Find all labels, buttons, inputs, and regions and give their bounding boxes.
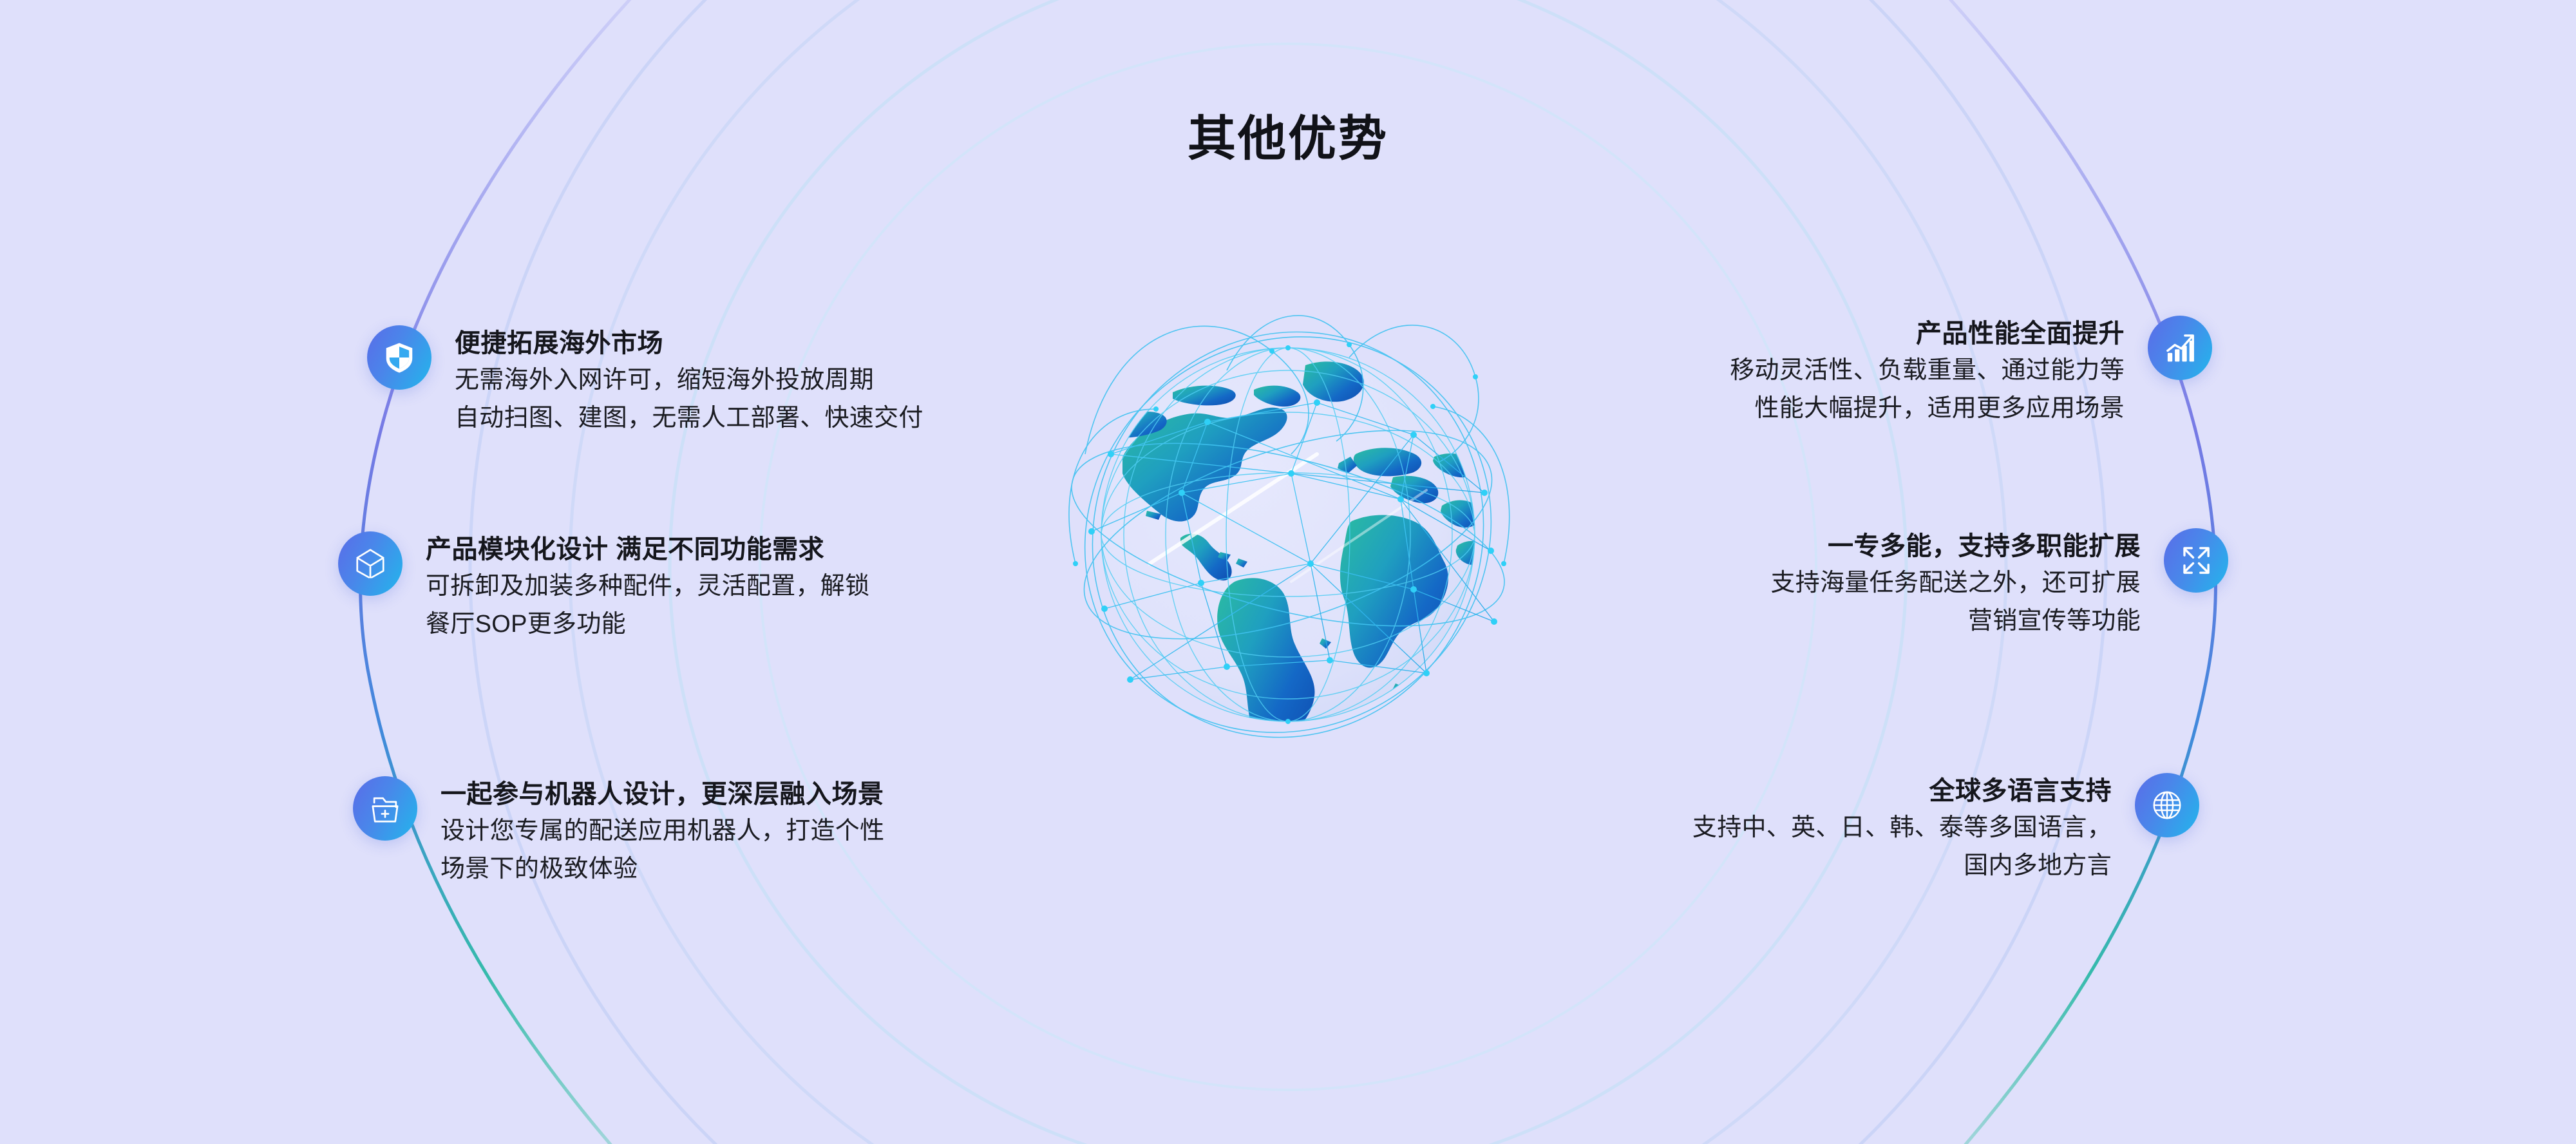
feature-heading: 产品模块化设计 满足不同功能需求 [426,533,869,567]
feature-item-left-1[interactable]: 便捷拓展海外市场 无需海外入网许可，缩短海外投放周期 自动扫图、建图，无需人工部… [367,325,923,437]
feature-item-right-2[interactable]: 一专多能，支持多职能扩展 支持海量任务配送之外，还可扩展 营销宣传等功能 [1770,528,2228,640]
cube-module-icon [353,546,388,581]
folder-plus-icon-badge[interactable] [353,776,417,841]
feature-text: 产品性能全面提升 移动灵活性、负载重量、通过能力等 性能大幅提升，适用更多应用场… [1730,316,2125,428]
feature-heading: 产品性能全面提升 [1730,317,2125,352]
feature-heading: 一专多能，支持多职能扩展 [1770,529,2141,564]
feature-item-right-1[interactable]: 产品性能全面提升 移动灵活性、负载重量、通过能力等 性能大幅提升，适用更多应用场… [1730,316,2212,428]
feature-text: 全球多语言支持 支持中、英、日、韩、泰等多国语言， 国内多地方言 [1692,773,2112,885]
feature-heading: 一起参与机器人设计，更深层融入场景 [440,777,884,812]
shield-icon [382,340,417,375]
feature-line: 国内多地方言 [1692,847,2112,885]
feature-text: 一起参与机器人设计，更深层融入场景 设计您专属的配送应用机器人，打造个性 场景下… [440,776,884,888]
feature-line: 无需海外入网许可，缩短海外投放周期 [455,361,923,399]
cube-module-icon-badge[interactable] [338,531,402,596]
folder-plus-icon [368,791,402,826]
globe-network-illustration [1014,261,1562,808]
trending-bar-chart-icon [2163,330,2197,365]
page-title: 其他优势 [0,115,2576,163]
globe-icon-badge[interactable] [2135,773,2199,837]
feature-line: 营销宣传等功能 [1770,602,2141,640]
feature-line: 支持海量任务配送之外，还可扩展 [1770,564,2141,602]
feature-text: 产品模块化设计 满足不同功能需求 可拆卸及加装多种配件，灵活配置，解锁 餐厅SO… [426,531,869,643]
feature-line: 移动灵活性、负载重量、通过能力等 [1730,352,2125,390]
expand-arrows-icon-badge[interactable] [2164,528,2228,593]
feature-heading: 全球多语言支持 [1692,774,2112,809]
shield-icon-badge[interactable] [367,325,431,390]
advantages-section: 其他优势 [0,0,2576,1144]
feature-text: 一专多能，支持多职能扩展 支持海量任务配送之外，还可扩展 营销宣传等功能 [1770,528,2141,640]
expand-arrows-icon [2179,543,2213,578]
feature-line: 场景下的极致体验 [440,850,884,888]
feature-item-right-3[interactable]: 全球多语言支持 支持中、英、日、韩、泰等多国语言， 国内多地方言 [1692,773,2199,885]
feature-heading: 便捷拓展海外市场 [455,327,923,361]
feature-item-left-2[interactable]: 产品模块化设计 满足不同功能需求 可拆卸及加装多种配件，灵活配置，解锁 餐厅SO… [338,531,869,643]
feature-line: 支持中、英、日、韩、泰等多国语言， [1692,809,2112,847]
globe-icon [2150,788,2184,823]
feature-text: 便捷拓展海外市场 无需海外入网许可，缩短海外投放周期 自动扫图、建图，无需人工部… [455,325,923,437]
feature-item-left-3[interactable]: 一起参与机器人设计，更深层融入场景 设计您专属的配送应用机器人，打造个性 场景下… [353,776,884,888]
feature-line: 设计您专属的配送应用机器人，打造个性 [440,812,884,850]
feature-line: 可拆卸及加装多种配件，灵活配置，解锁 [426,567,869,605]
feature-line: 餐厅SOP更多功能 [426,605,869,643]
trending-bar-chart-icon-badge[interactable] [2148,316,2212,380]
feature-line: 自动扫图、建图，无需人工部署、快速交付 [455,399,923,437]
feature-line: 性能大幅提升，适用更多应用场景 [1730,390,2125,428]
